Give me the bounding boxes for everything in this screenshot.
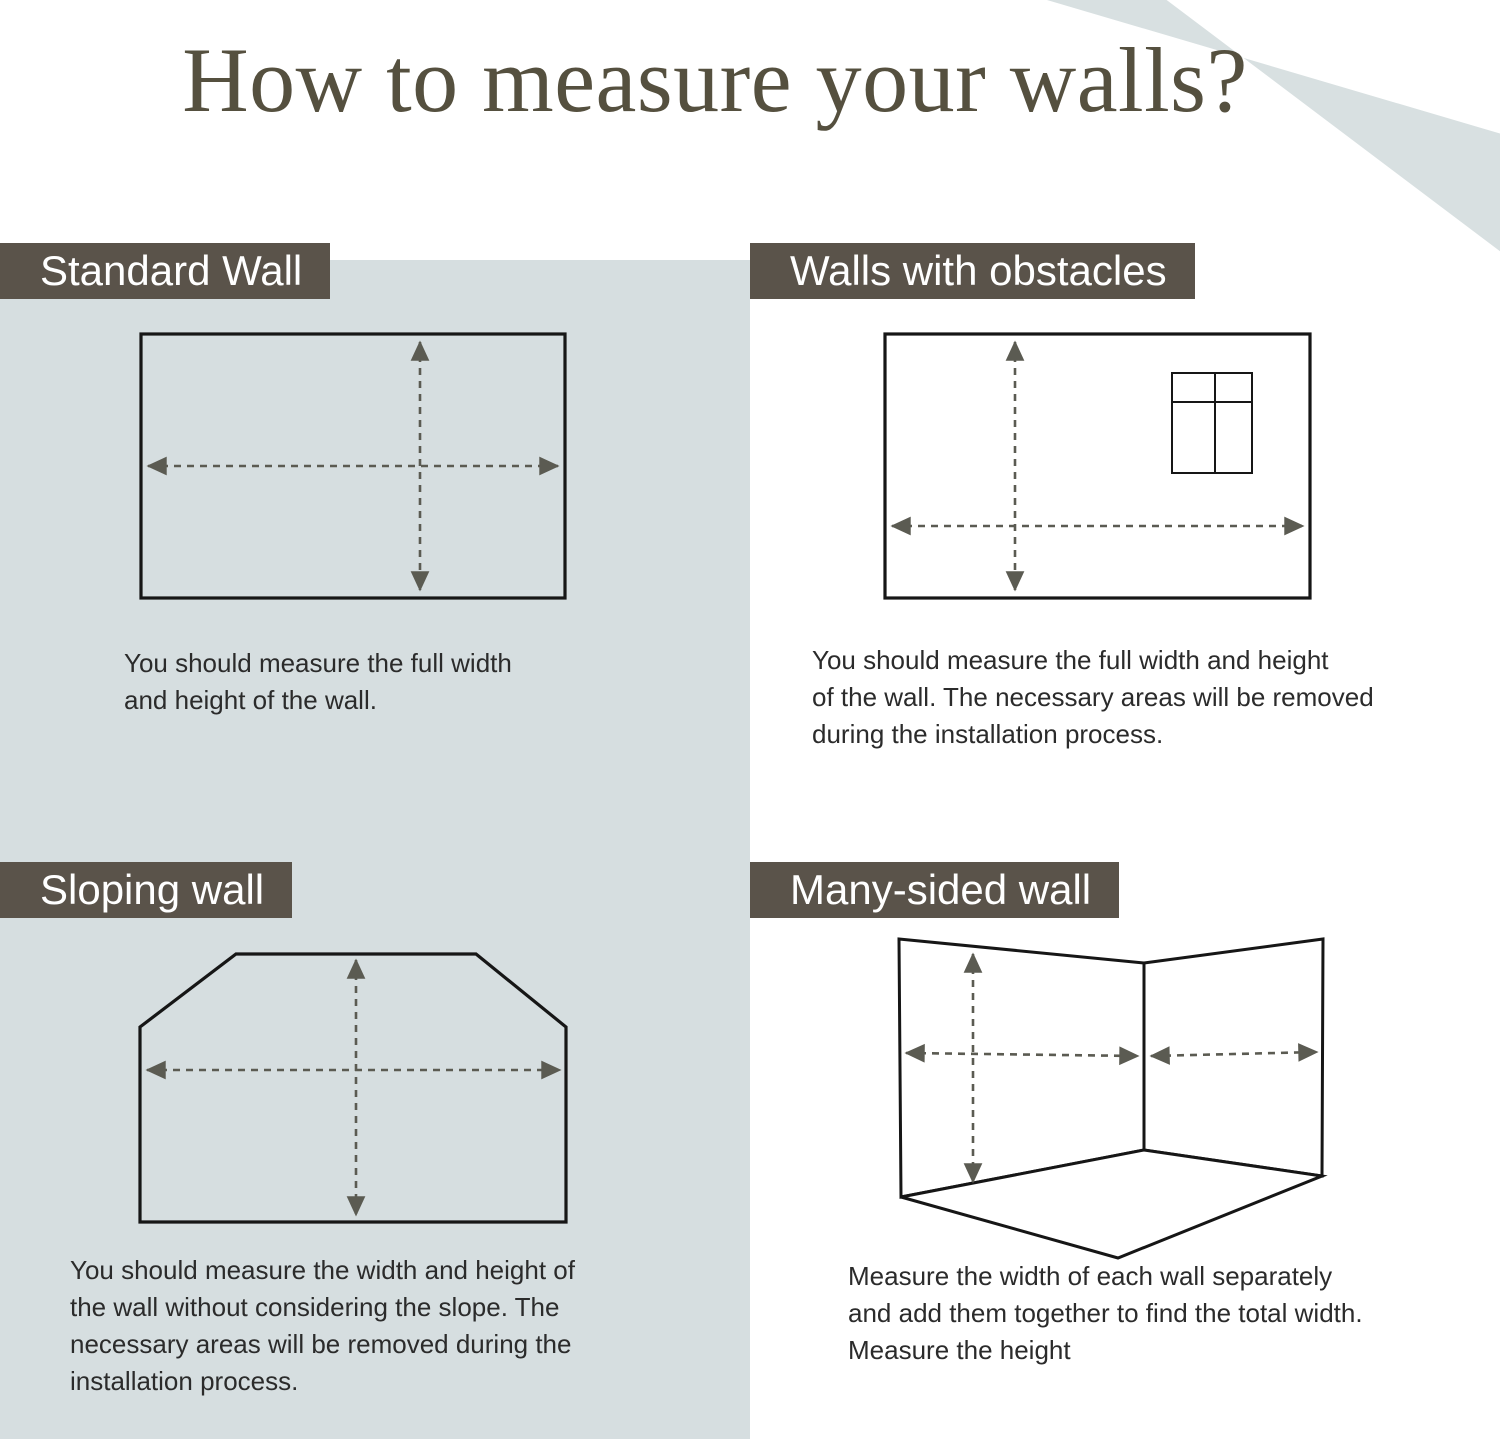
section-header-walls-with-obstacles: Walls with obstacles xyxy=(750,243,1195,299)
section-header-standard-wall: Standard Wall xyxy=(0,243,330,299)
window-obstacle-icon xyxy=(1172,373,1252,473)
section-header-many-sided-wall: Many-sided wall xyxy=(750,862,1119,918)
section-header-sloping-wall: Sloping wall xyxy=(0,862,292,918)
diagram-sloping-wall xyxy=(120,930,600,1240)
caption-standard-wall: You should measure the full width and he… xyxy=(124,645,724,719)
right-wall-plane xyxy=(1144,939,1323,1176)
diagram-many-sided-wall xyxy=(870,920,1360,1265)
caption-many-sided-wall: Measure the width of each wall separatel… xyxy=(848,1258,1468,1369)
wall-outline-hexagon xyxy=(140,954,566,1222)
infographic-page: How to measure your walls? Standard Wall… xyxy=(0,0,1500,1439)
diagram-wall-with-obstacles xyxy=(865,320,1335,620)
page-title: How to measure your walls? xyxy=(0,34,1430,126)
caption-sloping-wall: You should measure the width and height … xyxy=(70,1252,700,1400)
diagram-standard-wall xyxy=(120,320,590,620)
caption-walls-with-obstacles: You should measure the full width and he… xyxy=(812,642,1472,753)
